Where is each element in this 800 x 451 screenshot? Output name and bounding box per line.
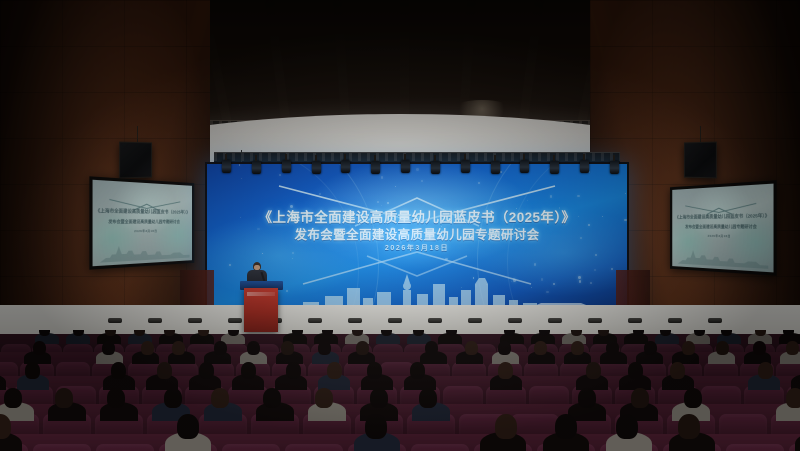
audience-member-head <box>356 341 369 355</box>
audience-member-head <box>495 414 517 439</box>
audience-member-head <box>465 341 478 355</box>
stage-floor-light <box>468 318 482 323</box>
podium-nameplate <box>247 292 275 296</box>
side-screen-left-title-1: 《上海市全面建设高质量幼儿园蓝皮书（2025年）》 <box>93 208 192 216</box>
side-screen-left-date: 2026年3月18日 <box>93 228 192 233</box>
stage-floor-light <box>108 318 122 323</box>
audience-member-head <box>716 341 729 355</box>
stage-spotlight <box>550 161 559 174</box>
audience-member-head <box>211 388 229 408</box>
stage-floor-light <box>588 318 602 323</box>
audience-member-head <box>241 362 256 379</box>
stage-spotlight <box>401 160 410 173</box>
audience-member-head <box>55 388 73 408</box>
side-screen-right-date: 2026年3月18日 <box>672 233 773 238</box>
stage-lighting-truss <box>214 152 620 162</box>
audience-member-head <box>315 388 333 408</box>
stage-spotlight <box>580 160 589 173</box>
audience-seat <box>222 444 280 451</box>
audience-member-head <box>214 341 227 355</box>
stage-spotlight <box>341 160 350 173</box>
audience-member-head <box>4 388 22 408</box>
audience-member-head <box>172 341 185 355</box>
stage-floor-light <box>148 318 162 323</box>
side-screen-right: 《上海市全面建设高质量幼儿园蓝皮书（2025年）》 发布会暨全面建设高质量幼儿园… <box>670 180 777 276</box>
stage-floor-light <box>708 318 722 323</box>
side-screen-left-title-2: 发布会暨全面建设高质量幼儿园专题研讨会 <box>93 219 192 225</box>
audience-member-head <box>247 341 260 355</box>
led-screen-title-line-1: 《上海市全面建设高质量幼儿园蓝皮书（2025年）》 <box>207 206 627 226</box>
audience-seat <box>33 444 91 451</box>
stage-spotlight <box>520 160 529 173</box>
stage-floor-light <box>308 318 322 323</box>
audience-member-head <box>670 362 685 379</box>
audience-member-head <box>327 362 342 379</box>
stage-floor-light <box>668 318 682 323</box>
side-screen-left: 《上海市全面建设高质量幼儿园蓝皮书（2025年）》 发布会暨全面建设高质量幼儿园… <box>89 176 194 269</box>
audience-member-head <box>758 362 773 379</box>
audience-member-head <box>318 341 331 355</box>
speaker-box-left <box>119 142 152 179</box>
stage-spotlight <box>610 161 619 174</box>
audience-member-head <box>498 341 511 355</box>
audience-member-head <box>555 414 577 439</box>
audience-member-head <box>578 388 596 408</box>
audience-member-head <box>263 388 281 408</box>
audience-member-head <box>534 341 547 355</box>
auditorium-photo: 《上海市全面建设高质量幼儿园蓝皮书（2025年）》 发布会暨全面建设高质量幼儿园… <box>0 0 800 451</box>
audience-member-head <box>498 362 513 379</box>
audience-member-head <box>616 414 638 439</box>
stage-floor-light <box>348 318 362 323</box>
audience-member-head <box>111 362 126 379</box>
audience-member-head <box>753 341 766 355</box>
audience-member-head <box>352 330 363 336</box>
audience-member-head <box>571 341 584 355</box>
side-screen-left-content: 《上海市全面建设高质量幼儿园蓝皮书（2025年）》 发布会暨全面建设高质量幼儿园… <box>93 180 192 267</box>
audience-member-head <box>586 362 601 379</box>
stage-spotlight <box>252 161 261 174</box>
audience-seat <box>96 444 154 451</box>
audience-seat <box>411 444 469 451</box>
audience-area <box>0 330 800 451</box>
led-screen-date: 2026年3月18日 <box>207 243 627 253</box>
stage-spotlight <box>371 161 380 174</box>
stage-spotlight <box>282 160 291 173</box>
audience-member-head <box>786 341 799 355</box>
audience-member-head <box>141 341 154 355</box>
audience-member-head <box>425 341 438 355</box>
audience-member-head <box>286 362 301 379</box>
audience-member-head <box>644 341 657 355</box>
audience-member-head <box>367 362 382 379</box>
audience-member-head <box>684 388 702 408</box>
audience-member-head <box>164 388 182 408</box>
audience-member-head <box>107 388 125 408</box>
skyline-graphic-icon <box>678 248 768 268</box>
stage-floor-light <box>388 318 402 323</box>
audience-member-head <box>678 414 700 439</box>
audience-member-head <box>25 362 40 379</box>
audience-member-head <box>786 388 800 408</box>
audience-member-head <box>628 362 643 379</box>
audience-member-head <box>631 388 649 408</box>
side-screen-right-content: 《上海市全面建设高质量幼儿园蓝皮书（2025年）》 发布会暨全面建设高质量幼儿园… <box>672 184 773 273</box>
audience-member-head <box>370 388 388 408</box>
audience-member-head <box>419 388 437 408</box>
speaker-box-wire <box>137 126 138 142</box>
audience-seat <box>726 444 784 451</box>
audience-member-head <box>33 341 46 355</box>
audience-member-head <box>365 414 387 439</box>
stage-spotlight <box>312 161 321 174</box>
audience-member-head <box>228 330 239 336</box>
skyline-graphic-icon <box>99 242 189 262</box>
led-screen-title-line-2: 发布会暨全面建设高质量幼儿园专题研讨会 <box>207 224 627 243</box>
audience-member-head <box>199 362 214 379</box>
podium <box>244 288 278 332</box>
audience-member-head <box>606 341 619 355</box>
audience-member-head <box>682 341 695 355</box>
audience-member-head <box>177 414 199 439</box>
audience-seat <box>285 444 343 451</box>
side-screen-right-title-2: 发布会暨全面建设高质量幼儿园专题研讨会 <box>672 224 773 230</box>
audience-member-head <box>413 330 424 336</box>
stage-floor-light <box>228 318 242 323</box>
audience-member-head <box>102 341 115 355</box>
stage-spotlight <box>431 161 440 174</box>
audience-member-head <box>157 362 172 379</box>
stage-spotlight <box>461 160 470 173</box>
stage-spotlight <box>491 161 500 174</box>
stage-floor-light <box>628 318 642 323</box>
speaker-box-right <box>684 142 717 179</box>
side-screen-right-title-1: 《上海市全面建设高质量幼儿园蓝皮书（2025年）》 <box>672 213 773 221</box>
audience-member-head <box>39 330 50 336</box>
stage-spotlight <box>222 160 231 173</box>
audience-member-head <box>410 362 425 379</box>
stage-floor-light <box>428 318 442 323</box>
stage-floor-light <box>548 318 562 323</box>
stage-floor-light <box>188 318 202 323</box>
stage-floor-light <box>508 318 522 323</box>
audience-member-head <box>281 341 294 355</box>
speaker-box-wire <box>700 126 701 142</box>
